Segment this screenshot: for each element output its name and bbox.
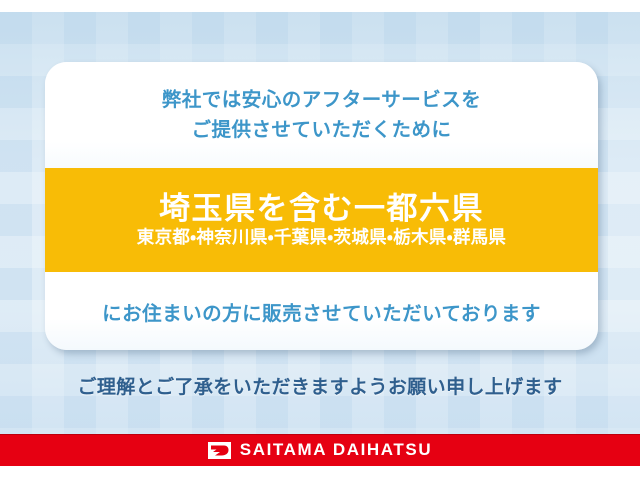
closing-line: にお住まいの方に販売させていただいております [102,297,541,326]
card-closing-section: にお住まいの方に販売させていただいております [45,272,598,350]
highlight-band: 埼玉県を含む一都六県 東京都・神奈川県・千葉県・茨城県・栃木県・群馬県 [45,168,598,272]
lead-line-2: ご提供させていただくために [191,118,451,142]
footer-caption: ご理解とご了承をいただきますようお願い申し上げます [0,372,640,399]
highlight-headline: 埼玉県を含む一都六県 [159,192,484,226]
brand-name: SAITAMA DAIHATSU [240,440,432,460]
brand-footer: SAITAMA DAIHATSU [0,434,640,466]
card-intro-section: 弊社では安心のアフターサービスを ご提供させていただくために [45,62,598,168]
lead-line-1: 弊社では安心のアフターサービスを [162,88,482,112]
notice-banner: 弊社では安心のアフターサービスを ご提供させていただくために 埼玉県を含む一都六… [0,0,640,480]
prefecture-list: 東京都・神奈川県・千葉県・茨城県・栃木県・群馬県 [137,228,506,248]
top-white-strip [0,0,640,12]
bottom-white-strip [0,466,640,480]
daihatsu-logo-icon [208,442,231,459]
notice-card: 弊社では安心のアフターサービスを ご提供させていただくために 埼玉県を含む一都六… [45,62,598,350]
